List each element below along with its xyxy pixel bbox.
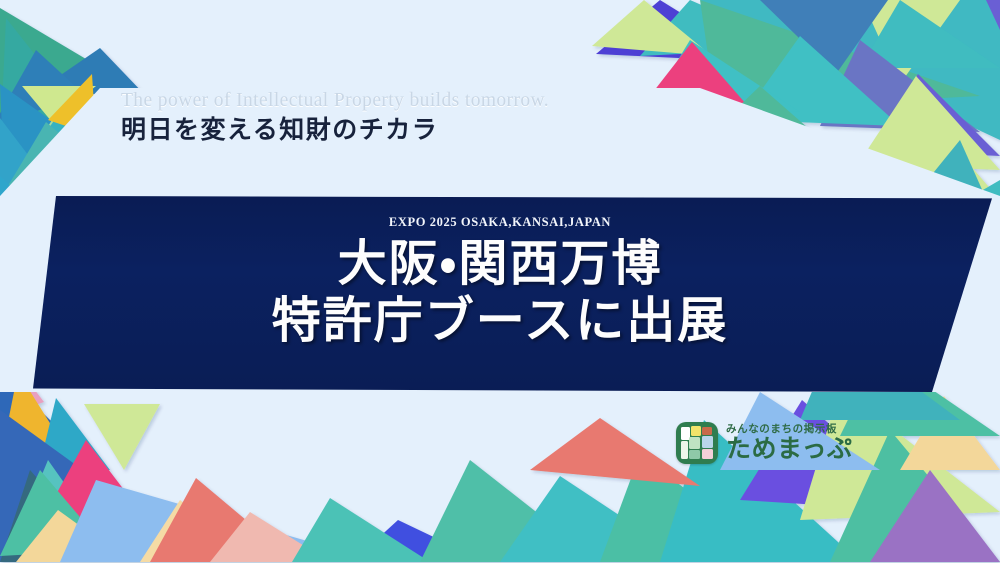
decor-triangle	[0, 176, 56, 254]
decor-triangle	[8, 122, 100, 186]
logo-tile	[702, 427, 712, 435]
decor-triangle	[700, 0, 980, 110]
headline-line-2: 特許庁ブースに出展	[272, 292, 729, 350]
logo-tile	[681, 441, 688, 459]
decor-triangle	[704, 86, 824, 142]
logo-text-block: みんなのまちの掲示板 ためまっぷ	[726, 424, 853, 463]
decor-triangle	[592, 0, 712, 56]
tamemap-logo[interactable]: みんなのまちの掲示板 ためまっぷ	[676, 422, 853, 464]
decor-triangle	[10, 120, 96, 186]
decor-triangle	[986, 0, 1000, 30]
expo-eyebrow: EXPO 2025 OSAKA,KANSAI,JAPAN	[389, 216, 611, 229]
decor-triangle	[600, 454, 780, 562]
decor-triangle	[860, 0, 1000, 68]
logo-tile	[702, 436, 713, 448]
logo-tile	[691, 426, 701, 436]
decor-triangle	[0, 410, 210, 562]
decor-triangle	[870, 74, 1000, 156]
decor-triangle	[140, 500, 260, 562]
decor-triangle	[636, 42, 760, 120]
decor-triangle	[420, 460, 600, 562]
decor-triangle	[820, 40, 980, 132]
decor-triangle	[0, 18, 96, 150]
decor-triangle	[500, 476, 690, 562]
logo-tile	[689, 450, 700, 459]
headline-line-1: 大阪・関西万博	[338, 236, 663, 291]
tagline-japanese: 明日を変える知財のチカラ	[121, 115, 549, 148]
decor-triangle	[596, 0, 760, 62]
tagline-block: The power of Intellectual Property build…	[121, 89, 549, 148]
decor-triangle	[0, 8, 118, 132]
decor-triangle	[60, 480, 380, 562]
decor-triangle	[352, 520, 486, 562]
banner-artwork: The power of Intellectual Property build…	[0, 0, 1000, 563]
decor-triangle	[14, 126, 96, 192]
decor-triangle	[716, 108, 832, 148]
logo-tile	[689, 437, 700, 449]
bulletin-board-icon	[676, 422, 718, 464]
decor-triangle	[700, 0, 1000, 140]
tagline-english: The power of Intellectual Property build…	[121, 89, 549, 113]
decor-triangle	[760, 0, 888, 74]
decor-triangle	[84, 404, 160, 470]
decor-triangle	[640, 0, 800, 56]
decor-triangle	[0, 470, 110, 562]
logo-title: ためまっぷ	[726, 437, 853, 462]
decor-triangle	[858, 76, 1000, 170]
decor-triangle	[22, 86, 96, 122]
decor-triangle	[292, 498, 430, 562]
decor-triangle	[830, 430, 1000, 562]
decor-triangle	[0, 470, 108, 556]
decor-triangle	[0, 50, 86, 124]
decor-triangle	[210, 512, 330, 562]
decor-triangle	[0, 118, 44, 200]
navy-banner: EXPO 2025 OSAKA,KANSAI,JAPAN 大阪・関西万博 特許庁…	[0, 196, 1000, 392]
decor-triangle	[648, 96, 768, 150]
decor-triangle	[740, 36, 900, 126]
decor-triangle	[42, 440, 150, 524]
decor-triangle	[900, 396, 1000, 470]
decor-triangle	[10, 460, 110, 552]
decor-triangle	[870, 470, 1000, 562]
decor-triangle	[150, 478, 296, 562]
logo-subtitle: みんなのまちの掲示板	[726, 424, 853, 435]
decor-triangle	[0, 118, 90, 196]
banner-headline: 大阪・関西万博 特許庁ブースに出展	[272, 235, 729, 351]
banner-content: EXPO 2025 OSAKA,KANSAI,JAPAN 大阪・関西万博 特許庁…	[0, 196, 1000, 392]
decor-triangle	[16, 510, 130, 562]
logo-tile	[702, 449, 713, 459]
decor-triangle	[48, 74, 96, 136]
decor-triangle	[0, 230, 46, 300]
decor-triangle	[734, 148, 860, 178]
decor-triangle	[862, 0, 960, 84]
decor-triangle	[530, 418, 700, 486]
decor-triangle	[650, 40, 800, 112]
decor-triangle	[900, 130, 1000, 200]
decor-triangle	[0, 84, 62, 176]
decor-triangle	[36, 398, 110, 480]
